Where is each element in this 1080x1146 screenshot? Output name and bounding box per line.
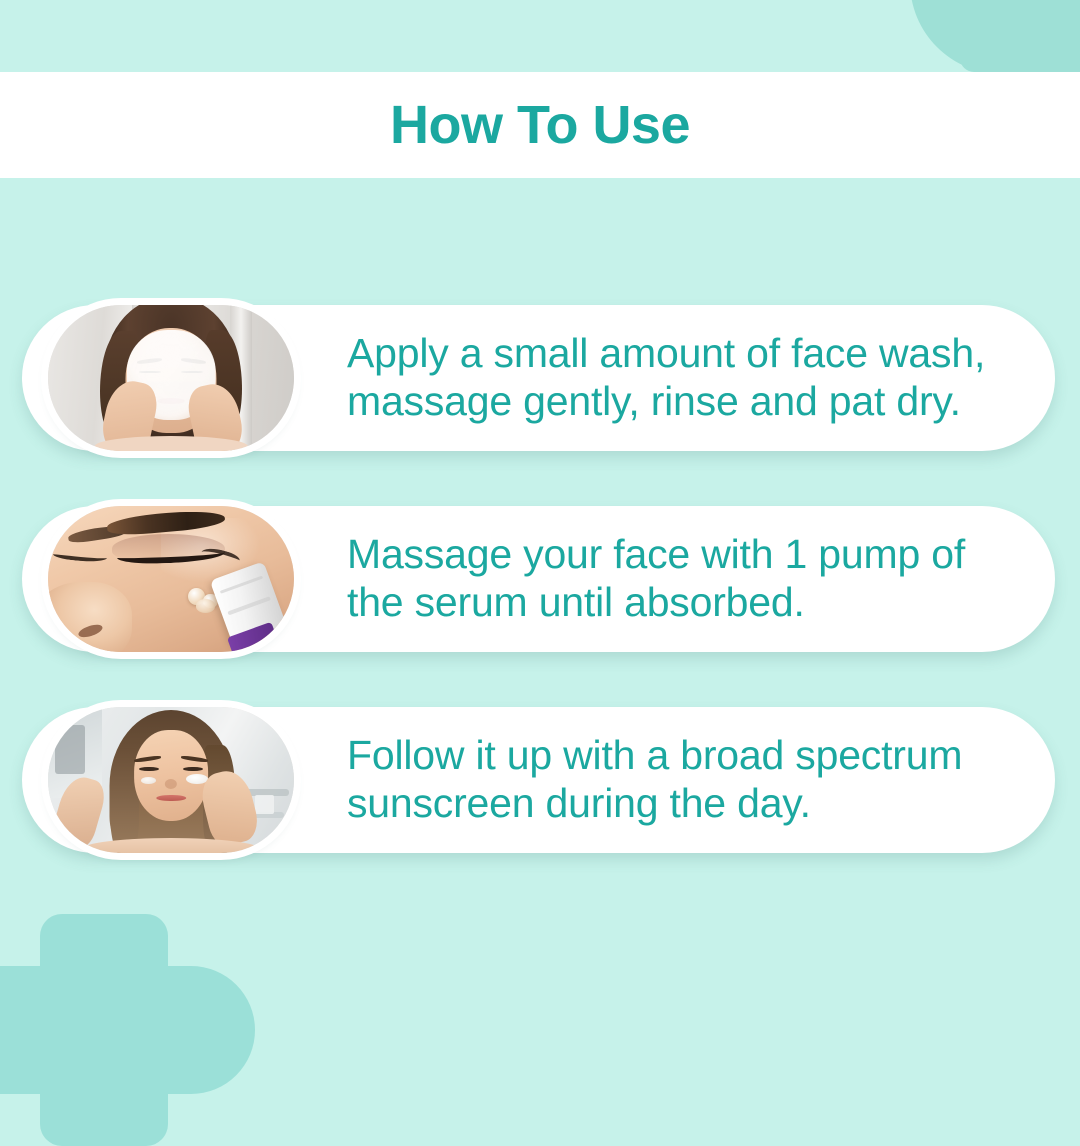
step-text: Follow it up with a broad spectrum sunsc… <box>347 732 982 828</box>
step-text: Massage your face with 1 pump of the ser… <box>347 531 985 627</box>
step-text-line-1: Follow it up with a broad spectrum <box>347 732 962 778</box>
step-text-line-1: Massage your face with 1 pump of <box>347 531 965 577</box>
step-thumbnail-serum <box>48 506 294 652</box>
step-text-line-2: the serum until absorbed. <box>347 579 965 627</box>
step-thumbnail-sunscreen <box>48 707 294 853</box>
step-card: Massage your face with 1 pump of the ser… <box>22 506 1055 652</box>
page-title: How To Use <box>390 98 690 152</box>
header-band: How To Use <box>0 72 1080 178</box>
decorative-shape-top-right-secondary <box>960 0 1080 72</box>
step-text-line-2: massage gently, rinse and pat dry. <box>347 378 985 426</box>
decorative-cross-bottom-left <box>0 914 168 1146</box>
step-text-line-2: sunscreen during the day. <box>347 780 962 828</box>
step-thumbnail-face-wash <box>48 305 294 451</box>
steps-list: Apply a small amount of face wash, massa… <box>0 305 1080 908</box>
step-text-line-1: Apply a small amount of face wash, <box>347 330 985 376</box>
step-card: Apply a small amount of face wash, massa… <box>22 305 1055 451</box>
step-card: Follow it up with a broad spectrum sunsc… <box>22 707 1055 853</box>
cross-horizontal-bar <box>0 966 255 1094</box>
step-text: Apply a small amount of face wash, massa… <box>347 330 1005 426</box>
